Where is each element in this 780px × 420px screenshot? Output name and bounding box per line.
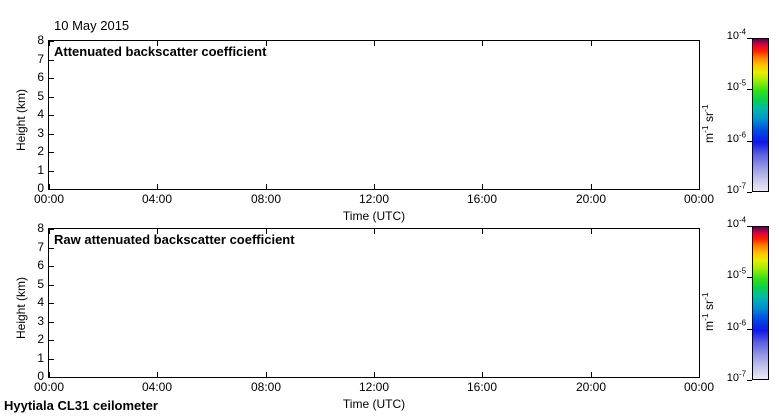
ytick-label-bottom-7: 7 <box>22 240 44 254</box>
xtick-mark-top-top-5 <box>591 41 592 46</box>
xtick-mark-bottom-4 <box>482 372 483 377</box>
xtick-mark-top-0 <box>49 184 50 189</box>
colorbar-gradient-bottom <box>753 227 768 379</box>
ytick-label-bottom-8: 8 <box>22 221 44 235</box>
xtick-label-top-0: 00:00 <box>23 192 75 206</box>
xtick-mark-bottom-3 <box>374 372 375 377</box>
ytick-mark-bottom-5 <box>49 285 54 286</box>
panel-attenuated-backscatter: Attenuated backscatter coefficient <box>48 40 700 190</box>
xtick-label-top-4: 16:00 <box>456 192 508 206</box>
xtick-mark-top-top-4 <box>482 41 483 46</box>
xtick-label-bottom-5: 20:00 <box>565 380 617 394</box>
colorbar-tick-mark-top-2 <box>747 141 752 142</box>
colorbar-tick-label-bottom-3: 10-7 <box>708 372 746 384</box>
ytick-mark-bottom-1 <box>49 359 54 360</box>
colorbar-tick-label-top-3: 10-7 <box>708 184 746 196</box>
ytick-mark-bottom-4 <box>49 303 54 304</box>
colorbar-top <box>752 38 769 192</box>
xtick-mark-top-3 <box>374 184 375 189</box>
ytick-mark-top-6 <box>49 78 54 79</box>
ytick-label-top-6: 6 <box>22 70 44 84</box>
ytick-mark-top-4 <box>49 115 54 116</box>
colorbar-tick-label-top-1: 10-5 <box>708 81 746 93</box>
ytick-mark-top-2 <box>49 152 54 153</box>
ytick-label-bottom-6: 6 <box>22 258 44 272</box>
footer-site-label: Hyytiala CL31 ceilometer <box>4 398 158 413</box>
xtick-mark-top-top-3 <box>374 41 375 46</box>
colorbar-tick-label-bottom-1: 10-5 <box>708 269 746 281</box>
colorbar-tick-label-top-0: 10-4 <box>708 30 746 42</box>
ytick-label-top-1: 1 <box>22 163 44 177</box>
colorbar-tick-label-bottom-0: 10-4 <box>708 218 746 230</box>
xtick-mark-bottom-6 <box>699 372 700 377</box>
xtick-label-top-3: 12:00 <box>348 192 400 206</box>
xaxis-title-bottom: Time (UTC) <box>314 397 434 411</box>
xtick-mark-top-bottom-3 <box>374 229 375 234</box>
panel-frame-top <box>48 40 700 190</box>
colorbar-bottom <box>752 226 769 380</box>
xtick-mark-top-bottom-6 <box>699 229 700 234</box>
colorbar-tick-mark-bottom-1 <box>747 277 752 278</box>
colorbar-tick-mark-top-3 <box>747 192 752 193</box>
colorbar-tick-mark-top-0 <box>747 38 752 39</box>
xtick-label-bottom-0: 00:00 <box>23 380 75 394</box>
xtick-mark-bottom-5 <box>591 372 592 377</box>
xtick-label-top-2: 08:00 <box>240 192 292 206</box>
xtick-mark-top-bottom-1 <box>157 229 158 234</box>
colorbar-tick-mark-bottom-0 <box>747 226 752 227</box>
ytick-label-top-8: 8 <box>22 33 44 47</box>
ytick-mark-top-1 <box>49 171 54 172</box>
yaxis-title-top: Height (km) <box>14 89 28 151</box>
xtick-label-bottom-1: 04:00 <box>131 380 183 394</box>
xtick-label-bottom-3: 12:00 <box>348 380 400 394</box>
yaxis-title-bottom: Height (km) <box>14 277 28 339</box>
xtick-mark-top-bottom-0 <box>49 229 50 234</box>
xtick-mark-top-top-1 <box>157 41 158 46</box>
ytick-mark-top-7 <box>49 60 54 61</box>
panel-frame-bottom <box>48 228 700 378</box>
colorbar-tick-mark-top-1 <box>747 89 752 90</box>
ytick-mark-bottom-7 <box>49 248 54 249</box>
xtick-label-top-5: 20:00 <box>565 192 617 206</box>
xtick-mark-top-top-2 <box>266 41 267 46</box>
xtick-label-top-1: 04:00 <box>131 192 183 206</box>
xtick-mark-top-1 <box>157 184 158 189</box>
ytick-label-top-7: 7 <box>22 52 44 66</box>
colorbar-tick-mark-bottom-3 <box>747 380 752 381</box>
xtick-mark-bottom-2 <box>266 372 267 377</box>
xtick-mark-bottom-1 <box>157 372 158 377</box>
xtick-label-bottom-4: 16:00 <box>456 380 508 394</box>
colorbar-unit-bottom: m-1 sr-1 <box>702 292 716 331</box>
ytick-mark-bottom-0 <box>49 377 54 378</box>
xtick-mark-top-4 <box>482 184 483 189</box>
colorbar-unit-top: m-1 sr-1 <box>702 104 716 143</box>
ytick-mark-bottom-3 <box>49 322 54 323</box>
date-title: 10 May 2015 <box>54 18 129 33</box>
xtick-label-bottom-2: 08:00 <box>240 380 292 394</box>
colorbar-gradient-top <box>753 39 768 191</box>
ytick-mark-bottom-2 <box>49 340 54 341</box>
ytick-mark-top-3 <box>49 134 54 135</box>
xtick-mark-top-2 <box>266 184 267 189</box>
colorbar-tick-mark-bottom-2 <box>747 329 752 330</box>
ytick-mark-bottom-6 <box>49 266 54 267</box>
ytick-mark-top-0 <box>49 189 54 190</box>
panel-raw-attenuated-backscatter: Raw attenuated backscatter coefficient <box>48 228 700 378</box>
xtick-mark-top-5 <box>591 184 592 189</box>
xtick-mark-bottom-0 <box>49 372 50 377</box>
xtick-mark-top-bottom-5 <box>591 229 592 234</box>
xtick-mark-top-bottom-2 <box>266 229 267 234</box>
xtick-mark-top-top-6 <box>699 41 700 46</box>
ceilometer-figure: 10 May 2015 Attenuated backscatter coeff… <box>0 0 780 420</box>
xtick-mark-top-top-0 <box>49 41 50 46</box>
ytick-mark-top-5 <box>49 97 54 98</box>
xaxis-title-top: Time (UTC) <box>314 209 434 223</box>
xtick-mark-top-bottom-4 <box>482 229 483 234</box>
ytick-label-bottom-1: 1 <box>22 351 44 365</box>
xtick-mark-top-6 <box>699 184 700 189</box>
